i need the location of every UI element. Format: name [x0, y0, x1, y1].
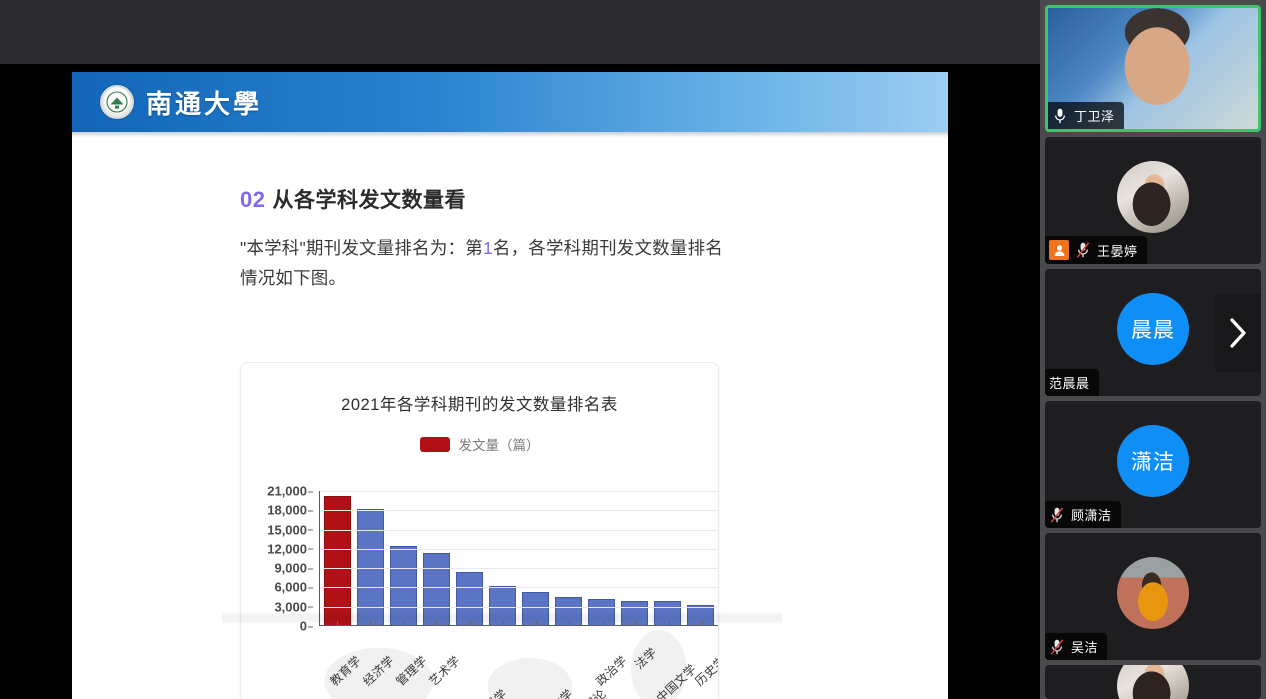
x-tick [636, 621, 637, 626]
heading-number: 02 [240, 187, 265, 212]
participant-name-chip: 王晏婷 [1045, 236, 1147, 264]
mic-on-icon [1052, 107, 1068, 125]
bar [687, 605, 714, 625]
x-tick [337, 621, 338, 626]
x-axis-label: 管理学 [392, 652, 430, 689]
x-tick [436, 621, 437, 626]
bar [654, 601, 681, 625]
desktop-top-bar [0, 0, 1040, 64]
x-axis-label: 法学 [631, 644, 660, 673]
x-axis-label: 政治学 [592, 652, 630, 689]
x-tick [403, 621, 404, 626]
mic-off-icon [1049, 506, 1065, 524]
paragraph-part-1: "本学科"期刊发文量排名为：第 [240, 238, 483, 258]
y-tick-label: 21,000 [267, 484, 307, 499]
x-tick [702, 621, 703, 626]
gridline [320, 491, 718, 492]
x-tick [503, 621, 504, 626]
university-name: 南通大學 [146, 84, 262, 121]
participant-name-chip: 范晨晨 [1045, 369, 1099, 396]
x-axis-label: 教育学 [326, 652, 364, 689]
bar [423, 553, 450, 625]
bar [390, 546, 417, 625]
y-tick-label: 0 [300, 619, 307, 634]
x-tick [569, 621, 570, 626]
avatar [1117, 665, 1189, 699]
slide-heading: 02从各学科发文数量看 [240, 184, 908, 214]
participant-name: 顾潇洁 [1071, 505, 1112, 524]
y-tick-label: 18,000 [267, 503, 307, 518]
x-axis-label: 经济学 [359, 652, 397, 689]
participant-tile[interactable] [1045, 665, 1261, 699]
next-page-button[interactable] [1215, 294, 1261, 372]
participant-tile[interactable]: 潇洁 顾潇洁 [1045, 401, 1261, 528]
screen-root: 南通大學 02从各学科发文数量看 "本学科"期刊发文量排名为：第1名，各学科期刊… [0, 0, 1266, 699]
x-axis-label: 新闻学与传播学 [436, 685, 510, 699]
participant-tile[interactable]: 王晏婷 [1045, 137, 1261, 264]
bar [588, 599, 615, 625]
x-axis-label: 艺术学 [425, 652, 463, 689]
participant-name: 王晏婷 [1097, 241, 1138, 260]
chart-title: 2021年各学科期刊的发文数量排名表 [241, 391, 718, 415]
bar [456, 572, 483, 625]
bar [324, 496, 351, 625]
avatar: 潇洁 [1117, 425, 1189, 497]
legend-swatch [420, 437, 450, 452]
participant-name-chip: 吴洁 [1045, 633, 1107, 660]
mic-off-icon [1075, 241, 1091, 259]
participant-name: 范晨晨 [1049, 373, 1090, 392]
participant-name-chip: 顾潇洁 [1045, 501, 1121, 528]
shared-slide: 南通大學 02从各学科发文数量看 "本学科"期刊发文量排名为：第1名，各学科期刊… [72, 72, 948, 699]
legend-label: 发文量（篇） [459, 434, 540, 454]
x-tick [536, 621, 537, 626]
avatar [1117, 557, 1189, 629]
y-tick-label: 15,000 [267, 522, 307, 537]
x-tick [669, 621, 670, 626]
mic-off-icon [1049, 638, 1065, 656]
chevron-right-icon [1227, 316, 1249, 350]
gridline [320, 510, 718, 511]
plot-area [319, 491, 718, 626]
slide-banner: 南通大學 [72, 72, 948, 132]
gridline [320, 607, 718, 608]
participant-name-chip: 丁卫泽 [1048, 102, 1124, 129]
avatar: 晨晨 [1117, 293, 1189, 365]
participant-tile[interactable]: 晨晨范晨晨 [1045, 269, 1261, 396]
x-axis-labels: 教育学经济学管理学艺术学新闻学与传播学图书馆、情报与文献学民族学与文化学马克思主… [319, 627, 718, 699]
x-tick [370, 621, 371, 626]
university-crest-icon [100, 85, 134, 119]
y-axis: 21,00018,00015,00012,0009,0006,0003,0000 [253, 491, 313, 626]
participant-tile[interactable]: 吴洁 [1045, 533, 1261, 660]
plot-wrapper: 21,00018,00015,00012,0009,0006,0003,0000… [241, 491, 718, 699]
x-axis-label: 民族学与文化学 [503, 685, 577, 699]
x-tick [603, 621, 604, 626]
participant-tile[interactable]: 丁卫泽 [1045, 5, 1261, 132]
y-tick-label: 12,000 [267, 541, 307, 556]
y-tick-label: 3,000 [274, 599, 307, 614]
x-tick [470, 621, 471, 626]
heading-text: 从各学科发文数量看 [272, 189, 466, 212]
slide-paragraph: "本学科"期刊发文量排名为：第1名，各学科期刊发文数量排名情况如下图。 [240, 233, 740, 293]
paragraph-highlight: 1 [483, 238, 493, 258]
y-tick-label: 6,000 [274, 580, 307, 595]
y-tick-label: 9,000 [274, 561, 307, 576]
participant-name: 吴洁 [1071, 637, 1098, 656]
gridline [320, 549, 718, 550]
slide-body: 02从各学科发文数量看 "本学科"期刊发文量排名为：第1名，各学科期刊发文数量排… [72, 138, 948, 699]
bar [621, 601, 648, 625]
avatar [1117, 161, 1189, 233]
gridline [320, 568, 718, 569]
gridline [320, 587, 718, 588]
gridline [320, 530, 718, 531]
participant-rail[interactable]: 丁卫泽 王晏婷晨晨范晨晨 潇洁 顾潇洁 吴洁 [1040, 0, 1266, 699]
participant-name: 丁卫泽 [1074, 106, 1115, 125]
chart-legend: 发文量（篇） [241, 434, 718, 454]
host-person-icon [1049, 240, 1069, 260]
chart-card: 2021年各学科期刊的发文数量排名表 发文量（篇） 21,00018,00015… [240, 362, 719, 699]
